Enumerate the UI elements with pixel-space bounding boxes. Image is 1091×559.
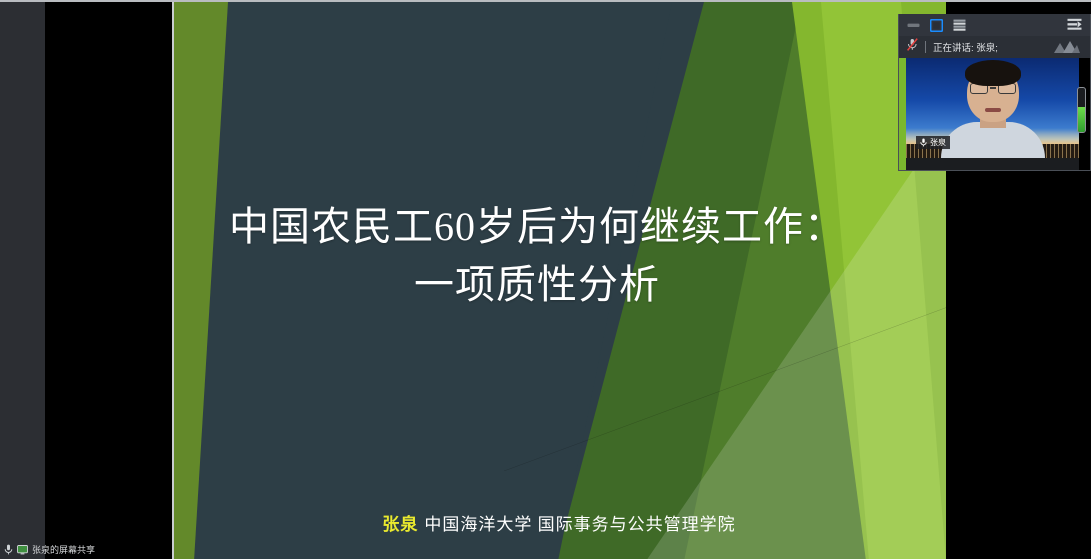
- screen-share-status: 张泉的屏幕共享: [4, 542, 95, 557]
- monitor-share-icon: [17, 545, 28, 555]
- video-stage[interactable]: 张泉: [899, 58, 1091, 171]
- panel-toggle-icon[interactable]: [1067, 18, 1082, 31]
- slide-title: 中国农民工60岁后为何继续工作： 一项质性分析: [174, 198, 900, 315]
- byline-affiliation: 中国海洋大学 国际事务与公共管理学院: [424, 515, 735, 534]
- list-view-icon[interactable]: [953, 19, 966, 31]
- left-rail: [0, 2, 45, 559]
- speaking-status-row: 正在讲话: 张泉;: [899, 36, 1090, 58]
- audio-waves-icon: [1054, 40, 1080, 59]
- participant-video-tile[interactable]: 张泉: [906, 58, 1079, 158]
- video-panel[interactable]: 正在讲话: 张泉;: [898, 14, 1091, 171]
- shared-slide[interactable]: 中国农民工60岁后为何继续工作： 一项质性分析 张泉中国海洋大学 国际事务与公共…: [172, 2, 946, 559]
- microphone-muted-icon: [907, 38, 918, 56]
- restore-window-icon[interactable]: [930, 19, 943, 32]
- minimize-icon[interactable]: [907, 20, 920, 31]
- participant-name: 张泉: [930, 137, 946, 148]
- divider: [925, 41, 926, 53]
- microphone-icon: [4, 544, 13, 555]
- active-speaker-indicator: [899, 58, 906, 171]
- speaking-status-label: 正在讲话: 张泉;: [933, 40, 998, 54]
- slide-byline: 张泉中国海洋大学 国际事务与公共管理学院: [174, 510, 944, 535]
- volume-level-fill: [1078, 107, 1085, 132]
- volume-level-meter: [1077, 87, 1086, 133]
- share-status-label: 张泉的屏幕共享: [32, 543, 95, 556]
- decor-diagonal-hairline: [504, 301, 946, 471]
- participant-name-badge: 张泉: [916, 136, 950, 149]
- microphone-icon: [920, 138, 927, 147]
- video-panel-toolbar: [899, 14, 1090, 36]
- video-tile-footer: [906, 158, 1079, 171]
- participant-hair: [965, 60, 1021, 86]
- byline-author: 张泉: [382, 515, 418, 534]
- desktop-root: 中国农民工60岁后为何继续工作： 一项质性分析 张泉中国海洋大学 国际事务与公共…: [0, 0, 1091, 559]
- participant-mouth: [985, 108, 1001, 112]
